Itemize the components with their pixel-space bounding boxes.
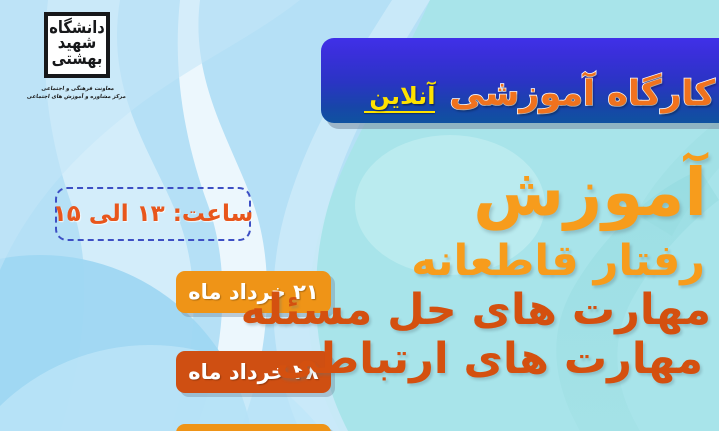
- time-box-label: ساعت: ۱۳ الی ۱۵: [53, 201, 254, 227]
- banner-online-badge: آنلاین: [369, 84, 435, 113]
- university-logo-subtitle-line-2: مرکز مشاوره و آموزش های اجتماعی: [13, 93, 140, 101]
- headline-topic-1: رفتار قاطعانه: [358, 240, 713, 283]
- banner-online-label: آنلاین: [369, 84, 435, 108]
- banner-title: کارگاه آموزشی: [449, 77, 715, 112]
- university-logo-subtitle: معاونت فرهنگی و اجتماعی مرکز مشاوره و آم…: [13, 85, 142, 102]
- workshop-banner: کارگاه آموزشی آنلاین: [321, 38, 719, 123]
- university-logo: دانشگاه شهید بهشتی معاونت فرهنگی و اجتما…: [14, 8, 140, 120]
- university-logo-subtitle-line-1: معاونت فرهنگی و اجتماعی: [14, 85, 141, 93]
- headline-stack: آموزش رفتار قاطعانه مهارت های حل مسئله م…: [358, 160, 713, 381]
- headline-topic-3: مهارت های ارتباطی: [358, 338, 713, 381]
- headline-primary: آموزش: [358, 160, 713, 226]
- workshop-poster: دانشگاه شهید بهشتی معاونت فرهنگی و اجتما…: [0, 0, 719, 431]
- university-logo-calligraphy: دانشگاه شهید بهشتی: [52, 16, 102, 74]
- university-logo-mark: دانشگاه شهید بهشتی: [44, 12, 110, 78]
- banner-online-underline: [364, 111, 435, 113]
- time-box: ساعت: ۱۳ الی ۱۵: [55, 187, 251, 241]
- date-badge: ۴ تیر ماه: [176, 424, 331, 431]
- headline-topic-2: مهارت های حل مسئله: [358, 289, 713, 332]
